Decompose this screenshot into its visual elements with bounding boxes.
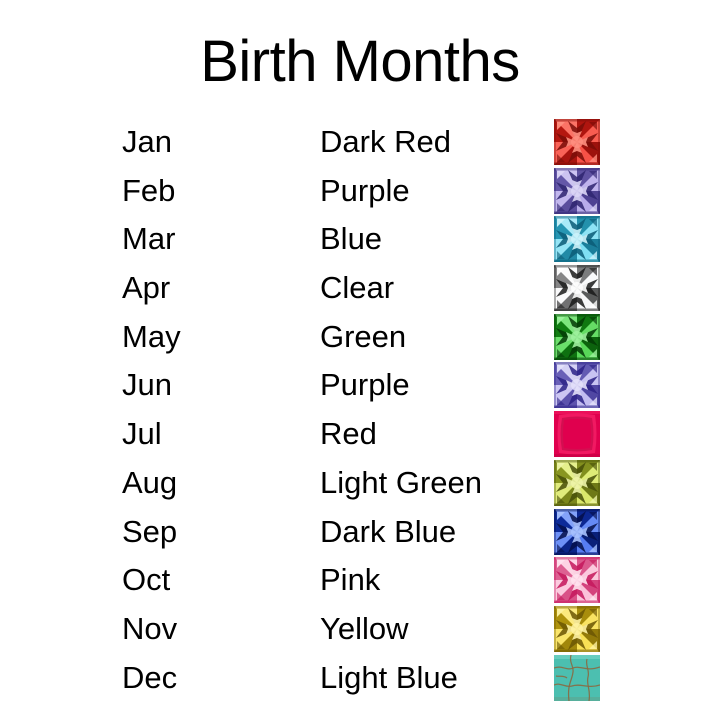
page-title: Birth Months (0, 26, 720, 98)
gem-sapphire-icon (554, 509, 600, 555)
month-label: Dec (122, 658, 177, 698)
month-label: Apr (122, 268, 170, 308)
table-row: MarBlue (0, 219, 720, 268)
birthstone-image (554, 606, 600, 652)
month-label: Nov (122, 609, 177, 649)
color-label: Pink (320, 560, 380, 600)
table-row: OctPink (0, 560, 720, 609)
birth-months-table: JanDark RedFebPurpleMarBlueAprClearMayGr… (0, 122, 720, 706)
table-row: FebPurple (0, 171, 720, 220)
color-label: Red (320, 414, 377, 454)
color-label: Blue (320, 219, 382, 259)
table-row: AprClear (0, 268, 720, 317)
birthstone-image (554, 119, 600, 165)
gem-alexandrite-icon (554, 362, 600, 408)
birthstone-image (554, 362, 600, 408)
month-label: Jan (122, 122, 172, 162)
month-label: Oct (122, 560, 170, 600)
table-row: SepDark Blue (0, 512, 720, 561)
table-row: JunPurple (0, 365, 720, 414)
birthstone-image (554, 509, 600, 555)
color-label: Dark Red (320, 122, 451, 162)
table-row: JanDark Red (0, 122, 720, 171)
color-label: Light Blue (320, 658, 458, 698)
gem-turquoise-icon (554, 655, 600, 701)
birthstone-image (554, 411, 600, 457)
birthstone-image (554, 314, 600, 360)
birthstone-image (554, 460, 600, 506)
birthstone-image (554, 655, 600, 701)
month-label: May (122, 317, 181, 357)
birthstone-image (554, 265, 600, 311)
color-label: Purple (320, 171, 410, 211)
month-label: Jun (122, 365, 172, 405)
birthstone-image (554, 557, 600, 603)
gem-garnet-icon (554, 119, 600, 165)
gem-topaz-icon (554, 606, 600, 652)
birth-months-page: Birth Months JanDark RedFebPurpleMarBlue… (0, 0, 720, 720)
gem-emerald-icon (554, 314, 600, 360)
color-label: Yellow (320, 609, 408, 649)
table-row: AugLight Green (0, 463, 720, 512)
month-label: Mar (122, 219, 175, 259)
color-label: Purple (320, 365, 410, 405)
color-label: Clear (320, 268, 394, 308)
gem-tourmaline-icon (554, 557, 600, 603)
table-row: MayGreen (0, 317, 720, 366)
gem-ruby-icon (554, 411, 600, 457)
month-label: Jul (122, 414, 162, 454)
table-row: DecLight Blue (0, 658, 720, 707)
gem-peridot-icon (554, 460, 600, 506)
month-label: Aug (122, 463, 177, 503)
color-label: Dark Blue (320, 512, 456, 552)
gem-diamond-icon (554, 265, 600, 311)
birthstone-image (554, 168, 600, 214)
birthstone-image (554, 216, 600, 262)
color-label: Green (320, 317, 406, 357)
table-row: NovYellow (0, 609, 720, 658)
gem-amethyst-icon (554, 168, 600, 214)
table-row: JulRed (0, 414, 720, 463)
color-label: Light Green (320, 463, 482, 503)
gem-aquamarine-icon (554, 216, 600, 262)
month-label: Sep (122, 512, 177, 552)
month-label: Feb (122, 171, 175, 211)
